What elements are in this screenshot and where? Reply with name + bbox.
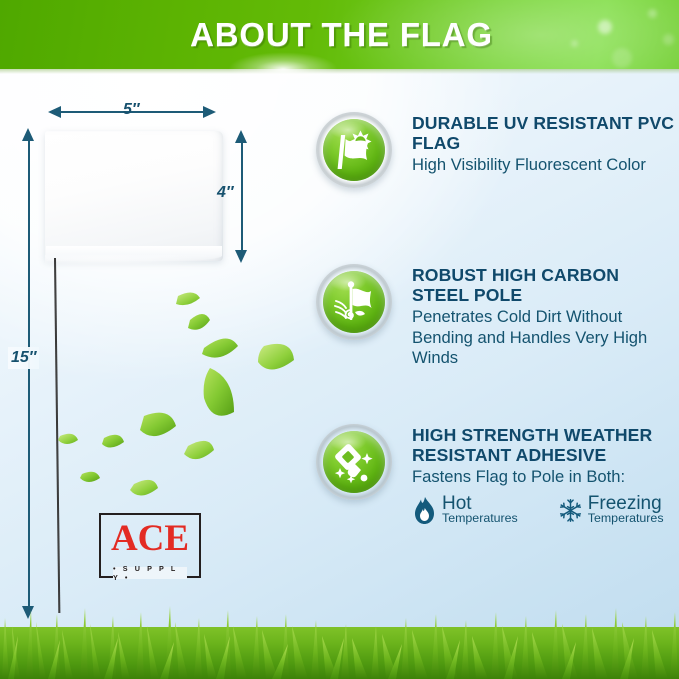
feature-heading: ROBUST HIGH CARBON STEEL POLE: [412, 266, 679, 305]
arrow-down-icon: [235, 250, 247, 263]
grass-foreground: [0, 596, 679, 679]
flag-height-label: 4″: [217, 184, 234, 202]
feature-heading: HIGH STRENGTH WEATHER RESISTANT ADHESIVE: [412, 426, 679, 465]
header-banner: ABOUT THE FLAG: [0, 0, 679, 69]
temperature-row: Hot Temperatures: [412, 496, 679, 526]
total-height-dimension-line: [28, 140, 30, 610]
logo-tagline: • S U P P L Y •: [113, 567, 187, 579]
flame-icon: [412, 496, 437, 525]
feature-body: High Visibility Fluorescent Color: [412, 155, 679, 175]
flag-pole-wind-icon: [323, 271, 385, 333]
feature-item-pvc-flag: DURABLE UV RESISTANT PVC FLAG High Visib…: [312, 104, 679, 256]
feature-text: DURABLE UV RESISTANT PVC FLAG High Visib…: [412, 104, 679, 176]
page-title: ABOUT THE FLAG: [0, 0, 679, 69]
temperature-item-hot: Hot Temperatures: [412, 496, 518, 526]
logo-brand-text: ACE: [99, 514, 201, 562]
flag-cloth: [45, 131, 223, 261]
feature-body: Fastens Flag to Pole in Both:: [412, 467, 679, 487]
feature-heading: DURABLE UV RESISTANT PVC FLAG: [412, 114, 679, 153]
feature-badge: [316, 264, 392, 340]
feature-body: Penetrates Cold Dirt Without Bending and…: [412, 307, 679, 368]
flag-bottom-fold: [46, 246, 222, 262]
snowflake-icon: [558, 496, 583, 525]
feature-text: ROBUST HIGH CARBON STEEL POLE Penetrates…: [412, 256, 679, 368]
temperature-subtitle: Temperatures: [442, 511, 518, 526]
arrow-up-icon: [235, 130, 247, 143]
temperature-title: Hot: [442, 496, 518, 511]
feature-badge: [316, 112, 392, 188]
temperature-subtitle: Temperatures: [588, 511, 664, 526]
arrow-left-icon: [48, 106, 61, 118]
feature-badge: [316, 424, 392, 500]
temperature-item-freezing: Freezing Temperatures: [558, 496, 664, 526]
flag-width-label: 5″: [123, 101, 140, 119]
height-dimension-line: [241, 142, 243, 252]
temperature-label: Freezing Temperatures: [588, 496, 664, 526]
feature-item-steel-pole: ROBUST HIGH CARBON STEEL POLE Penetrates…: [312, 256, 679, 416]
temperature-label: Hot Temperatures: [442, 496, 518, 526]
product-infographic: ABOUT THE FLAG 5″ 4″ 15″: [0, 0, 679, 679]
flag-sun-icon: [323, 119, 385, 181]
grass-blades: [0, 596, 679, 679]
feature-text: HIGH STRENGTH WEATHER RESISTANT ADHESIVE…: [412, 416, 679, 488]
feature-item-adhesive: HIGH STRENGTH WEATHER RESISTANT ADHESIVE…: [312, 416, 679, 556]
arrow-up-icon: [22, 128, 34, 141]
glue-bottle-sparkle-icon: [323, 431, 385, 493]
banner-bottom-edge: [0, 69, 679, 74]
feature-list: DURABLE UV RESISTANT PVC FLAG High Visib…: [312, 104, 679, 556]
total-height-label: 15″: [8, 347, 39, 369]
brand-logo: ACE • S U P P L Y •: [99, 513, 201, 578]
arrow-right-icon: [203, 106, 216, 118]
temperature-title: Freezing: [588, 496, 664, 511]
